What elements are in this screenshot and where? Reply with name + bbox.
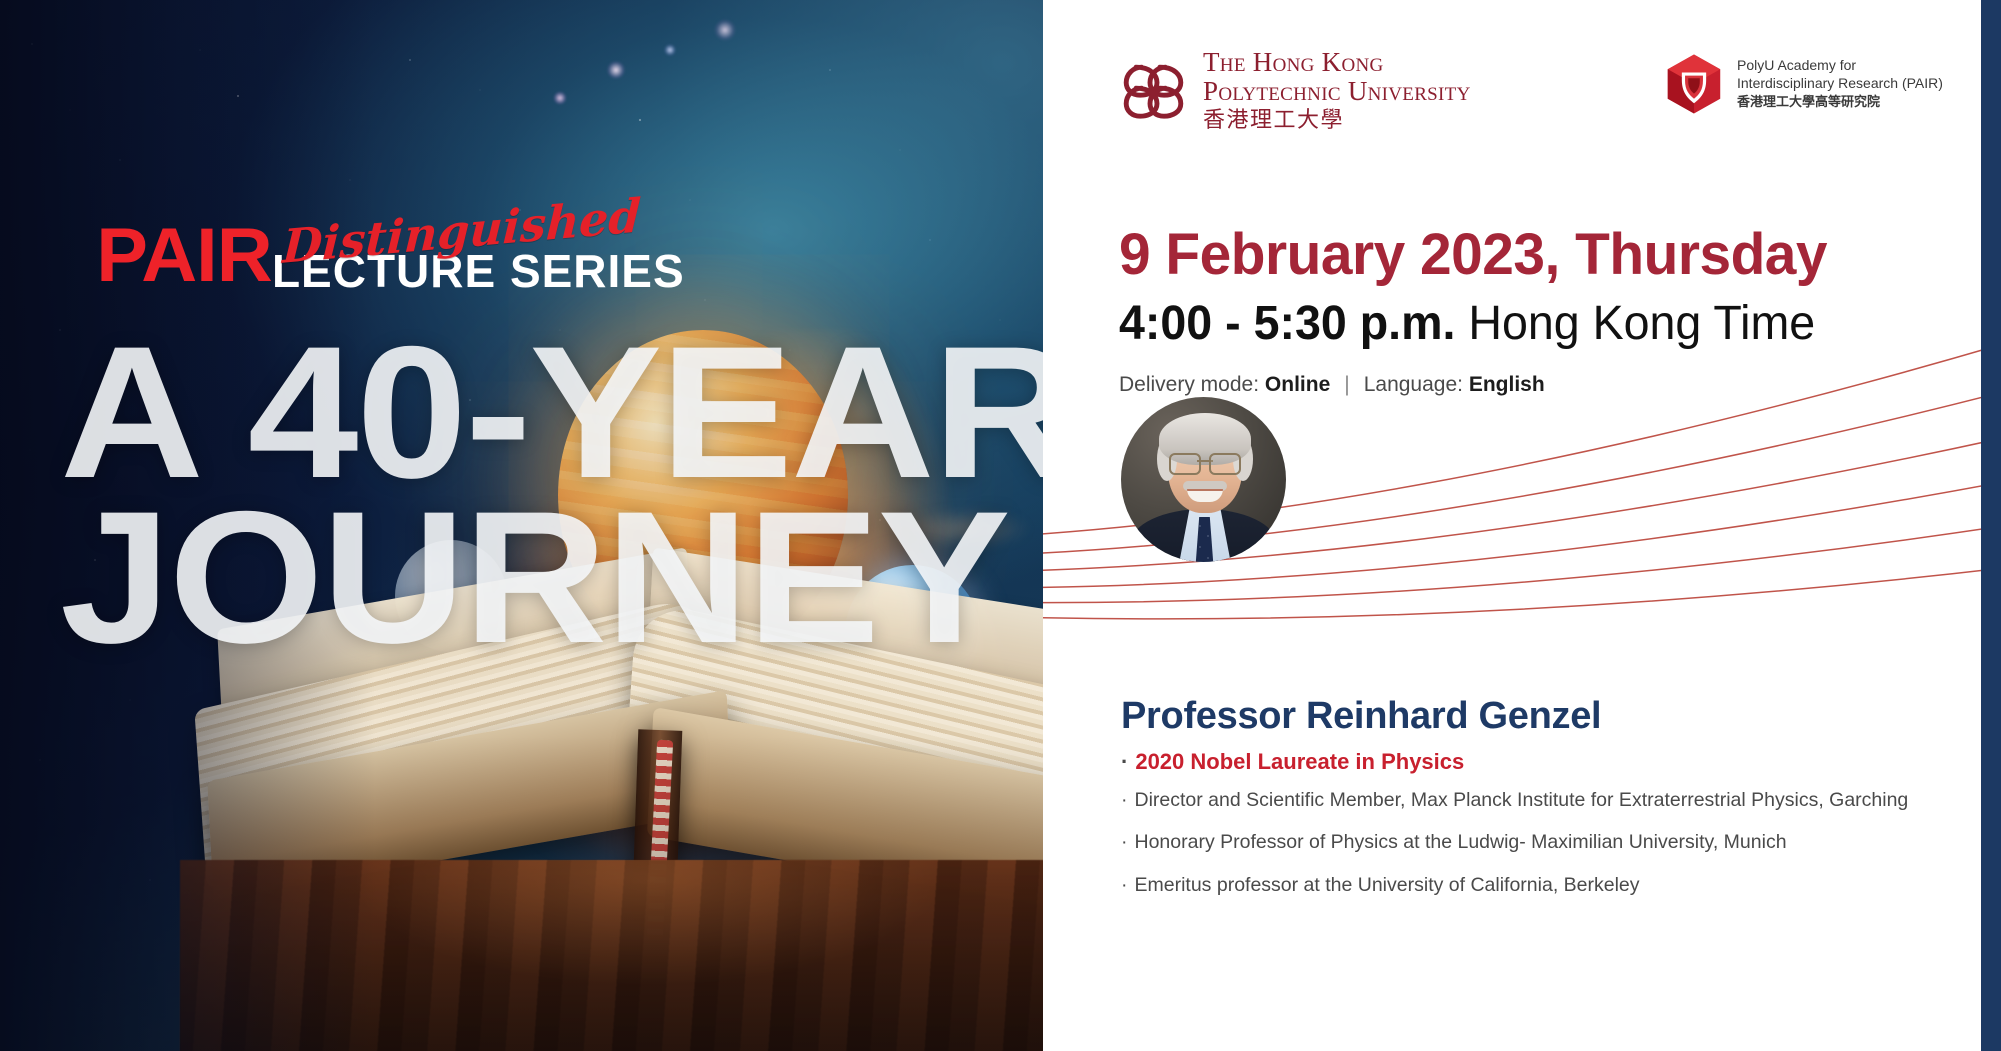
lecture-poster: PAIR Distinguished LECTURE SERIES A 40-Y… [0,0,2001,1051]
content-panel: The Hong Kong Polytechnic University 香港理… [1043,0,2001,1051]
list-item: ·Honorary Professor of Physics at the Lu… [1121,829,1971,855]
honor-text: 2020 Nobel Laureate in Physics [1135,749,1464,774]
bullet-glyph: · [1121,789,1128,811]
hero-title-line-1: A 40-YEAR [60,330,1043,495]
right-edge-band [1981,0,2001,1051]
pair-logo-text: PolyU Academy for Interdisciplinary Rese… [1737,56,1943,113]
affiliation-text: Honorary Professor of Physics at the Lud… [1135,831,1787,853]
honor-bullet-glyph: · [1121,749,1128,774]
logo-row: The Hong Kong Polytechnic University 香港理… [1115,48,1925,132]
event-meta-row: Delivery mode: Online | Language: Englis… [1119,373,1959,397]
speaker-honor: ·2020 Nobel Laureate in Physics [1121,749,1971,775]
language-value: English [1469,373,1545,397]
affiliation-text: Emeritus professor at the University of … [1135,874,1640,896]
table-shading [180,860,1043,1051]
bullet-glyph: · [1121,874,1128,896]
event-timezone: Hong Kong Time [1455,297,1815,350]
series-pair-wordmark: PAIR [96,218,271,294]
polyu-line-2: Polytechnic University [1203,77,1471,106]
language-label: Language: [1364,373,1463,397]
hero-visual-panel: PAIR Distinguished LECTURE SERIES A 40-Y… [0,0,1043,1051]
event-time-range: 4:00 - 5:30 p.m. [1119,297,1455,350]
polyu-logo-text: The Hong Kong Polytechnic University 香港理… [1203,48,1471,135]
series-right-stack: Distinguished LECTURE SERIES [272,248,685,294]
polyu-chinese-name: 香港理工大學 [1203,108,1471,134]
portrait-lens-left [1169,453,1201,475]
speaker-info: Professor Reinhard Genzel ·2020 Nobel La… [1121,695,1971,914]
polyu-line-1: The Hong Kong [1203,48,1471,77]
pair-chinese-name: 香港理工大學高等研究院 [1737,94,1943,112]
list-item: ·Emeritus professor at the University of… [1121,872,1971,898]
speaker-name: Professor Reinhard Genzel [1121,695,1971,739]
hero-title: A 40-YEAR JOURNEY [60,330,1043,661]
pair-line-1: PolyU Academy for [1737,56,1943,75]
bullet-glyph: · [1121,831,1128,853]
pair-line-2: Interdisciplinary Research (PAIR) [1737,74,1943,93]
hero-title-line-2: JOURNEY [60,495,1043,660]
delivery-mode-value: Online [1265,373,1330,397]
portrait-lens-right [1209,453,1241,475]
polyu-logo: The Hong Kong Polytechnic University 香港理… [1115,48,1471,135]
star-cluster-icon [520,10,810,160]
series-lockup: PAIR Distinguished LECTURE SERIES [98,218,685,294]
meta-separator: | [1344,373,1349,397]
affiliation-text: Director and Scientific Member, Max Plan… [1135,789,1909,811]
event-time: 4:00 - 5:30 p.m. Hong Kong Time [1119,298,1934,351]
speaker-affiliations: ·Director and Scientific Member, Max Pla… [1121,787,1971,898]
portrait-glasses-icon [1169,453,1241,471]
pair-logo: PolyU Academy for Interdisciplinary Rese… [1665,52,1943,116]
polyu-knot-icon [1115,56,1185,126]
event-details: 9 February 2023, Thursday 4:00 - 5:30 p.… [1119,225,1959,397]
event-date: 9 February 2023, Thursday [1119,225,1942,286]
speaker-portrait [1121,397,1286,562]
pair-cube-icon [1665,52,1723,116]
delivery-mode-label: Delivery mode: [1119,373,1259,397]
list-item: ·Director and Scientific Member, Max Pla… [1121,787,1971,813]
